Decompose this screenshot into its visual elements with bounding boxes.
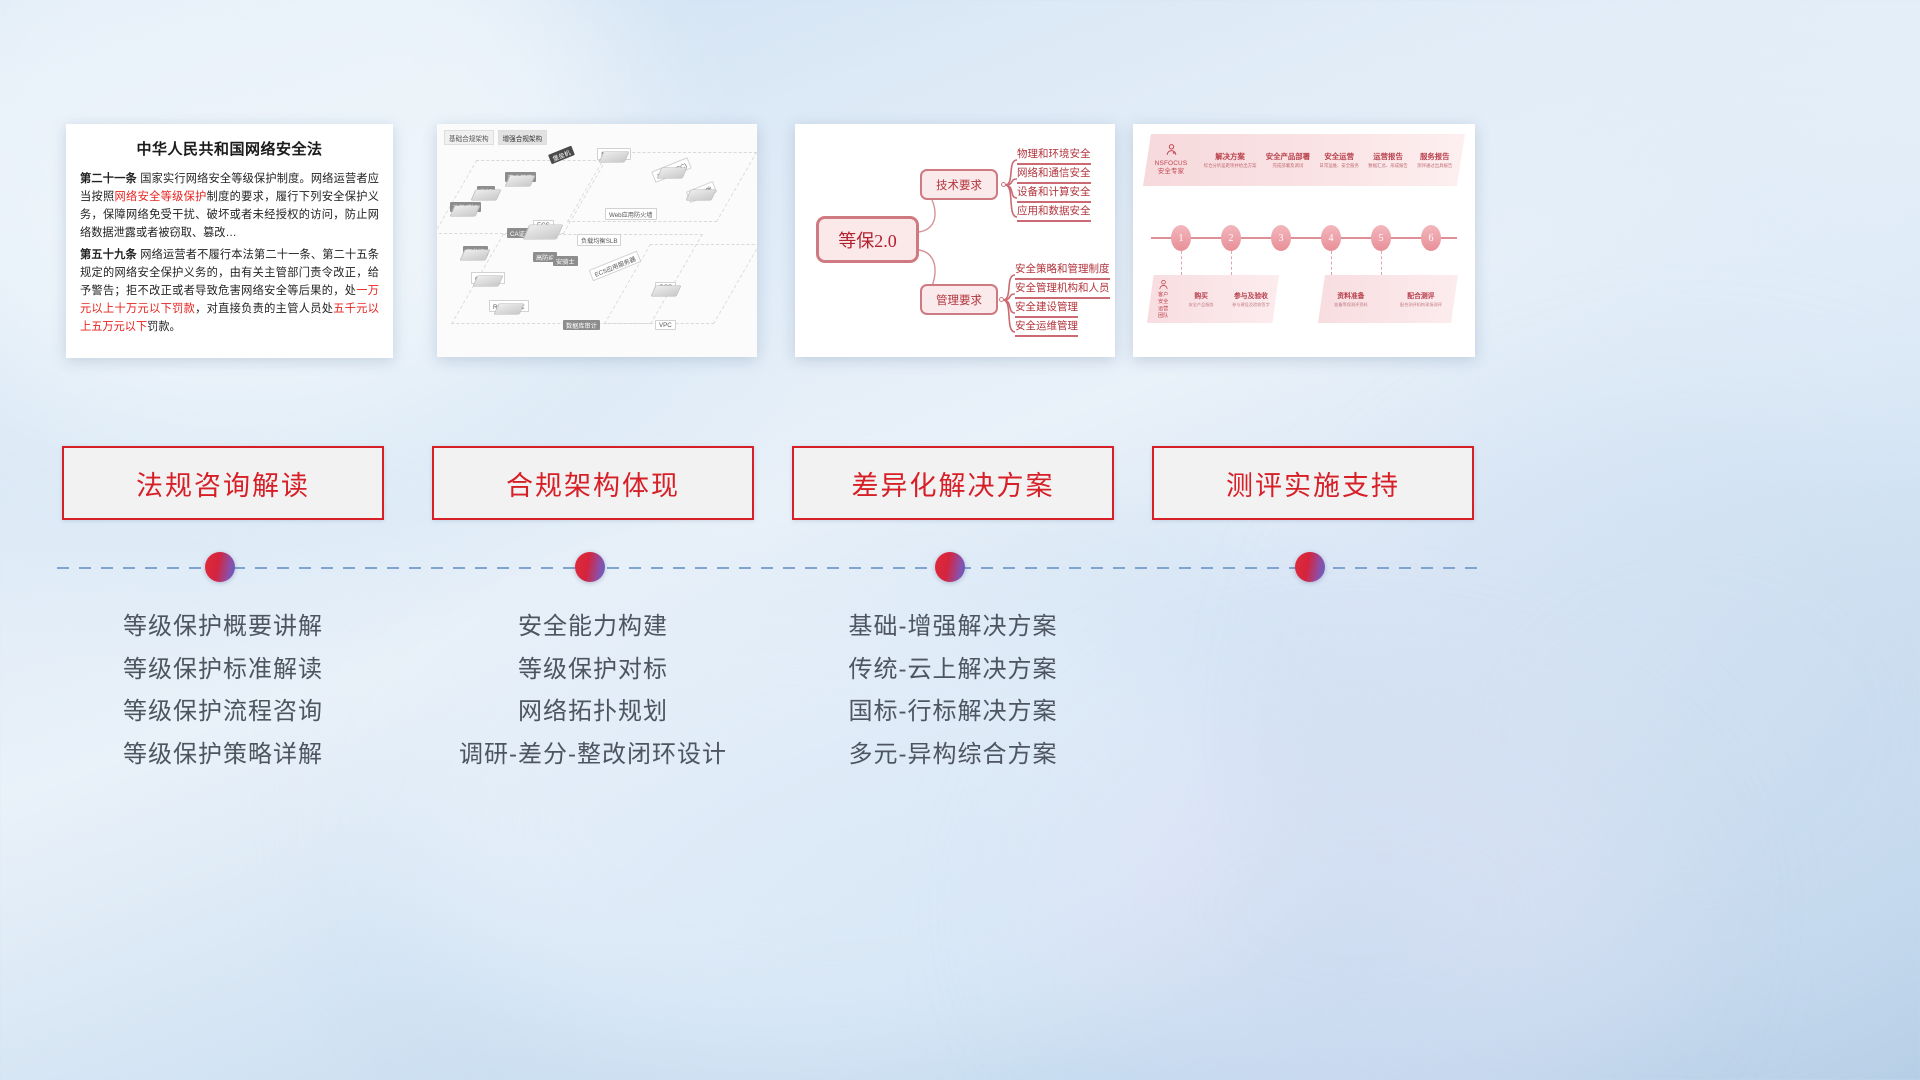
stage-list-3: 基础-增强解决方案 传统-云上解决方案 国标-行标解决方案 多元-异构综合方案 [792,606,1114,777]
list-item: 传统-云上解决方案 [792,649,1114,692]
list-item: 网络拓扑规划 [432,691,754,734]
arch-node-ocs-cache: OCS缓存 [471,272,505,285]
nsfocus-customer-badge: 客户 安全运营团队 [1156,279,1170,320]
stage-heading-label-3: 差异化解决方案 [852,464,1055,503]
arch-node-security-butler: 安全管家 [505,172,536,183]
law-article-59-text-3: 罚款。 [147,321,181,333]
mindmap-dengbao: 等保2.0 技术要求 物理和环境安全 网络和通信安全 设备和计算安全 应用和数据… [795,124,1115,357]
nsfocus-banner-item: 解决方案综合分析差距项并给出方案 [1204,151,1257,170]
arch-node-rds-database: RDS数据库 [489,300,529,313]
preview-card-row: 中华人民共和国网络安全法 第二十一条 国家实行网络安全等级保护制度。网络运营者应… [0,124,1920,360]
timeline-dot-4[interactable] [1295,552,1325,582]
architecture-tabs: 基础合规架构 增强合规架构 [444,130,547,145]
mindmap-leaf-org-personnel: 安全管理机构和人员 [1015,280,1110,299]
arch-node-oss: OSS [655,282,676,293]
nsfocus-banner-items: 解决方案综合分析差距项并给出方案 安全产品部署完成部署及调试 安全运营日常运维、… [1199,151,1465,170]
stage-heading-box-1[interactable]: 法规咨询解读 [62,446,384,520]
law-article-21: 第二十一条 国家实行网络安全等级保护制度。网络运营者应当按照网络安全等级保护制度… [80,170,379,243]
list-item: 安全能力构建 [432,606,754,649]
stage-heading-box-4[interactable]: 测评实施支持 [1152,446,1474,520]
stage-list-1: 等级保护概要讲解 等级保护标准解读 等级保护流程咨询 等级保护策略详解 [62,606,384,777]
stage-heading-box-3[interactable]: 差异化解决方案 [792,446,1114,520]
stage-heading-label-2: 合规架构体现 [506,464,680,503]
mindmap-leaf-physical-env: 物理和环境安全 [1017,146,1091,165]
list-item: 等级保护流程咨询 [62,691,384,734]
preview-card-nsfocus-timeline[interactable]: NSFOCUS 安全专家 解决方案综合分析差距项并给出方案 安全产品部署完成部署… [1133,124,1475,357]
nsfocus-axis-line [1151,237,1457,239]
list-item: 等级保护概要讲解 [62,606,384,649]
law-document: 中华人民共和国网络安全法 第二十一条 国家实行网络安全等级保护制度。网络运营者应… [66,124,393,336]
mindmap-leaf-app-data: 应用和数据安全 [1017,203,1091,222]
list-item: 基础-增强解决方案 [792,606,1114,649]
nsfocus-step-5[interactable]: 5 [1371,225,1391,251]
nsfocus-lower-item: 资料准备准备等保测评资料 [1334,290,1368,308]
law-article-21-label: 第二十一条 [80,173,137,185]
nsfocus-stem-4 [1331,251,1332,275]
arch-node-xianzhi: 先知 [477,186,495,197]
nsfocus-banner-item: 服务报告测评通过出具报告 [1417,151,1452,170]
arch-node-bastion-host: 堡垒机 [549,150,574,161]
law-title: 中华人民共和国网络安全法 [80,138,379,159]
nsfocus-step-3[interactable]: 3 [1271,225,1291,251]
nsfocus-banner-item: 安全产品部署完成部署及调试 [1266,151,1310,170]
nsfocus-expert-badge: NSFOCUS 安全专家 [1143,143,1199,177]
mindmap-leaf-device-compute: 设备和计算安全 [1017,184,1091,203]
preview-card-cybersecurity-law[interactable]: 中华人民共和国网络安全法 第二十一条 国家实行网络安全等级保护制度。网络运营者应… [66,124,393,358]
timeline-dot-1[interactable] [205,552,235,582]
list-item: 国标-行标解决方案 [792,691,1114,734]
tab-basic-compliance[interactable]: 基础合规架构 [444,130,494,145]
mindmap-leaf-network-comm: 网络和通信安全 [1017,165,1091,184]
law-article-59: 第五十九条 网络运营者不履行本法第二十一条、第二十五条规定的网络安全保护义务的，… [80,246,379,337]
nsfocus-step-1[interactable]: 1 [1171,225,1191,251]
arch-node-ops-acc: 运维 (ACC) [652,164,691,177]
timeline-dashed-line [57,567,1480,569]
law-article-59-text-2: ，对直接负责的主管人员处 [195,303,333,315]
timeline-track [57,566,1480,570]
nsfocus-step-4[interactable]: 4 [1321,225,1341,251]
mindmap-leaf-ops-mgmt: 安全运维管理 [1015,318,1078,337]
list-item: 等级保护标准解读 [62,649,384,692]
nsfocus-customer-box-right: 资料准备准备等保测评资料 配合测评配合测评机构现场测评 [1318,275,1458,323]
nsfocus-timeline: NSFOCUS 安全专家 解决方案综合分析差距项并给出方案 安全产品部署完成部署… [1133,124,1475,357]
list-item: 等级保护对标 [432,649,754,692]
nsfocus-step-2[interactable]: 2 [1221,225,1241,251]
arch-node-anqishi: 安骑士 [553,256,578,267]
slide-stage: 中华人民共和国网络安全法 第二十一条 国家实行网络安全等级保护制度。网络运营者应… [0,0,1920,1080]
nsfocus-expert-banner: NSFOCUS 安全专家 解决方案综合分析差距项并给出方案 安全产品部署完成部署… [1143,134,1465,186]
mindmap-leaf-construction-mgmt: 安全建设管理 [1015,299,1078,318]
timeline-dot-3[interactable] [935,552,965,582]
customer-person-icon [1158,279,1169,290]
mindmap-branch-technical[interactable]: 技术要求 [920,169,998,200]
list-item: 等级保护策略详解 [62,734,384,777]
list-item: 调研-差分-整改闭环设计 [432,734,754,777]
arch-node-web-waf: Web应用防火墙 [605,208,657,221]
nsfocus-lower-item: 参与及验收参与建设及验收签字 [1232,290,1270,308]
nsfocus-banner-item: 安全运营日常运维、安全服务 [1319,151,1359,170]
arch-node-situation-awareness: 态势感知 [450,202,481,213]
law-article-21-highlight: 网络安全等级保护 [115,191,207,203]
tab-enhanced-compliance[interactable]: 增强合规架构 [498,130,548,145]
preview-card-architecture-diagram[interactable]: 基础合规架构 增强合规架构 堡垒机 安全管家 先知 [437,124,757,357]
mindmap-collapse-dot-technical[interactable] [1001,182,1006,187]
law-article-59-label: 第五十九条 [80,249,137,261]
nsfocus-customer-role: 安全运营团队 [1156,299,1170,319]
timeline-dot-2[interactable] [575,552,605,582]
arch-node-ecs: ECS [533,220,554,231]
list-item: 多元-异构综合方案 [792,734,1114,777]
arch-node-mobile-terminal: 移动 终端 [597,148,631,161]
mindmap-branch-management[interactable]: 管理要求 [920,284,998,315]
nsfocus-lower-item: 购买安全产品服务 [1189,290,1214,308]
mindmap-collapse-dot-management[interactable] [999,297,1004,302]
architecture-diagram: 基础合规架构 增强合规架构 堡垒机 安全管家 先知 [437,124,757,357]
mindmap-leaf-policy-system: 安全策略和管理制度 [1015,261,1110,280]
stage-heading-label-4: 测评实施支持 [1226,464,1400,503]
nsfocus-customer-box-left: 客户 安全运营团队 购买安全产品服务 参与及验收参与建设及验收签字 [1147,275,1279,323]
arch-node-jump-server: 保垒机 [463,246,488,257]
stage-heading-row: 法规咨询解读 合规架构体现 差异化解决方案 测评实施支持 [0,446,1920,520]
expert-person-icon [1165,143,1178,156]
nsfocus-stem-2 [1231,251,1232,275]
nsfocus-stem-5 [1381,251,1382,275]
arch-node-pc-terminal: PC终端 [687,186,716,199]
nsfocus-expert-role: 安全专家 [1143,168,1199,177]
nsfocus-stem-1 [1181,251,1182,275]
stage-list-2: 安全能力构建 等级保护对标 网络拓扑规划 调研-差分-整改闭环设计 [432,606,754,777]
nsfocus-step-6[interactable]: 6 [1421,225,1441,251]
arch-node-db-audit: 数据库审计 [563,320,600,331]
arch-node-slb: 负载均衡SLB [577,234,621,247]
stage-heading-label-1: 法规咨询解读 [136,464,310,503]
nsfocus-lower-item: 配合测评配合测评机构现场测评 [1400,290,1442,308]
mindmap-root-node[interactable]: 等保2.0 [816,216,919,263]
arch-node-vpc: VPC [655,320,676,331]
preview-card-mindmap[interactable]: 等保2.0 技术要求 物理和环境安全 网络和通信安全 设备和计算安全 应用和数据… [795,124,1115,357]
nsfocus-banner-item: 运营报告数据汇总、形成报告 [1368,151,1408,170]
stage-heading-box-2[interactable]: 合规架构体现 [432,446,754,520]
arch-node-ecs-app-server: ECS应用服务器 [589,260,641,273]
